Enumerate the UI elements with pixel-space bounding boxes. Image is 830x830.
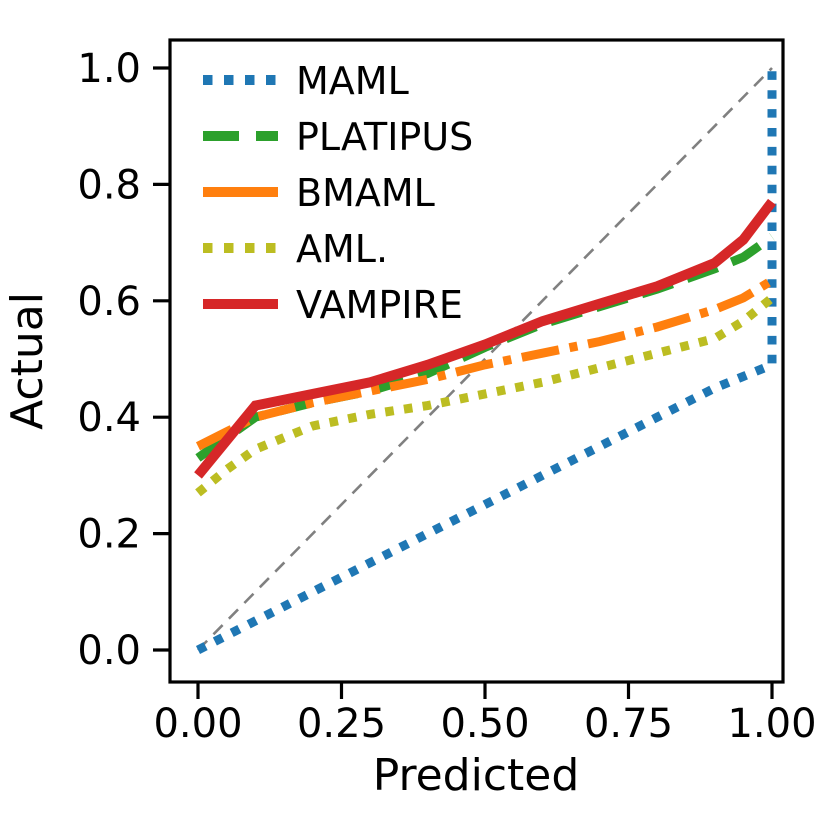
y-tick-label: 0.0 xyxy=(77,628,141,674)
calibration-chart-figure: 0.000.250.500.751.000.00.20.40.60.81.0 M… xyxy=(0,0,830,830)
x-tick-label: 0.00 xyxy=(153,701,242,747)
y-tick-label: 1.0 xyxy=(77,46,141,92)
y-tick-label: 0.6 xyxy=(77,279,141,325)
y-tick-label: 0.8 xyxy=(77,162,141,208)
y-tick-label: 0.4 xyxy=(77,395,141,441)
x-tick-label: 0.50 xyxy=(440,701,529,747)
x-tick-label: 0.75 xyxy=(584,701,673,747)
x-tick-label: 1.00 xyxy=(727,701,816,747)
y-tick-label: 0.2 xyxy=(77,512,141,558)
legend-label-platipus: PLATIPUS xyxy=(296,115,473,159)
legend-label-bmaml: BMAML xyxy=(296,171,435,215)
y-axis-title: Actual xyxy=(2,292,53,430)
legend-label-maml: MAML xyxy=(296,59,409,103)
chart-canvas: 0.000.250.500.751.000.00.20.40.60.81.0 M… xyxy=(0,0,830,830)
x-tick-label: 0.25 xyxy=(297,701,386,747)
legend-label-vampire: VAMPIRE xyxy=(296,283,463,327)
x-axis-title: Predicted xyxy=(373,750,580,801)
legend-label-aml: AML. xyxy=(296,227,388,271)
